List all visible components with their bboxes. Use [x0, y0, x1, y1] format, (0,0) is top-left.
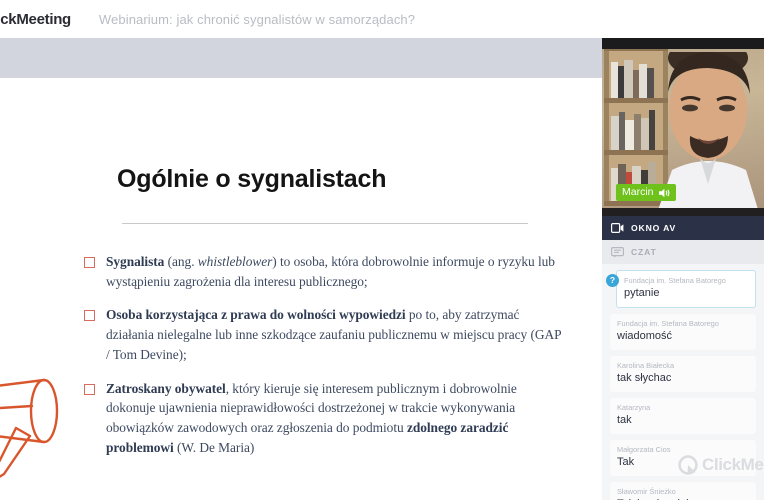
presentation-stage[interactable]: SZ os Ogólnie o sygnalistach Sygnalista … — [0, 38, 602, 500]
question-badge-icon: ? — [606, 274, 619, 287]
bullet-italic-term: whistleblower — [198, 254, 273, 269]
webinar-title: Webinarium: jak chronić sygnalistów w sa… — [99, 12, 415, 27]
clickmeeting-logo-icon — [678, 455, 698, 475]
bullet-text: Zatroskany obywatel, który kieruje się i… — [106, 379, 564, 458]
tab-okno-av-label: OKNO AV — [631, 223, 676, 233]
chat-bubble-icon — [611, 247, 624, 258]
chat-author: Małgorzata Cios — [617, 445, 749, 454]
chat-text: pytanie — [624, 287, 748, 301]
bullet-text: Sygnalista (ang. whistleblower) to osoba… — [106, 252, 564, 291]
chat-message[interactable]: Fundacja im. Stefana Batorego wiadomość — [610, 314, 756, 350]
chat-author: Karolina Białecka — [617, 361, 749, 370]
app-header: ClickMeeting Webinarium: jak chronić syg… — [0, 0, 764, 38]
chat-text: tak — [617, 414, 749, 428]
watermark-text: ClickMee — [702, 455, 764, 475]
chat-text: tak słychac — [617, 372, 749, 386]
chat-message[interactable]: Karolina Białecka tak słychac — [610, 356, 756, 392]
camera-icon — [611, 223, 624, 233]
webcam-tile[interactable]: Marcin — [602, 38, 764, 216]
chat-message-question[interactable]: ? Fundacja im. Stefana Batorego pytanie — [616, 270, 756, 308]
speaker-icon — [659, 188, 670, 198]
clickmeeting-watermark: ClickMee — [678, 455, 764, 475]
bullet-square-icon — [84, 257, 95, 268]
book — [639, 64, 647, 98]
chat-text: wiadomość — [617, 330, 749, 344]
bullet-lead: Osoba korzystająca z prawa do wolności w… — [106, 307, 406, 322]
shelf-side-left — [604, 46, 609, 206]
speaker-name-badge: Marcin — [616, 184, 676, 201]
bullet-square-icon — [84, 384, 95, 395]
tab-okno-av[interactable]: OKNO AV — [602, 216, 764, 240]
bullet-square-icon — [84, 310, 95, 321]
chat-author: Fundacja im. Stefana Batorego — [624, 276, 748, 285]
webcam-letterbox-bottom — [602, 208, 764, 216]
book — [611, 116, 619, 150]
chat-message[interactable]: Sławomir Śnieżko Tak bardzo dobrze — [610, 482, 756, 500]
brand-logo[interactable]: ClickMeeting — [0, 11, 71, 28]
megaphone-icon — [0, 366, 70, 486]
chat-message[interactable]: Katarzyna tak — [610, 398, 756, 434]
bullet-lead: Zatroskany obywatel — [106, 381, 226, 396]
bullet-item: Sygnalista (ang. whistleblower) to osoba… — [84, 252, 564, 291]
chat-author: Sławomir Śnieżko — [617, 487, 749, 496]
book — [634, 114, 641, 150]
book — [624, 60, 633, 98]
webcam-letterbox-top — [602, 38, 764, 49]
slide-canvas: SZ os Ogólnie o sygnalistach Sygnalista … — [0, 78, 602, 500]
bullet-tail: (W. De Maria) — [174, 440, 255, 455]
slide-bullet-list: Sygnalista (ang. whistleblower) to osoba… — [84, 252, 564, 471]
right-sidebar: Marcin OKNO AV CZAT ? Fundacja im. Stef — [602, 38, 764, 500]
book — [625, 120, 634, 150]
slide-title: Ogólnie o sygnalistach — [117, 165, 386, 194]
bullet-text: Osoba korzystająca z prawa do wolności w… — [106, 305, 564, 364]
title-divider — [122, 223, 528, 224]
tab-czat[interactable]: CZAT — [602, 240, 764, 264]
chat-author: Katarzyna — [617, 403, 749, 412]
bullet-lead: Sygnalista — [106, 254, 164, 269]
bullet-mid: (ang. — [164, 254, 198, 269]
chat-author: Fundacja im. Stefana Batorego — [617, 319, 749, 328]
speaker-name: Marcin — [622, 187, 654, 198]
bullet-item: Zatroskany obywatel, który kieruje się i… — [84, 379, 564, 458]
tab-czat-label: CZAT — [631, 247, 657, 257]
bullet-item: Osoba korzystająca z prawa do wolności w… — [84, 305, 564, 364]
stage-top-band — [0, 38, 602, 78]
book — [611, 62, 618, 98]
